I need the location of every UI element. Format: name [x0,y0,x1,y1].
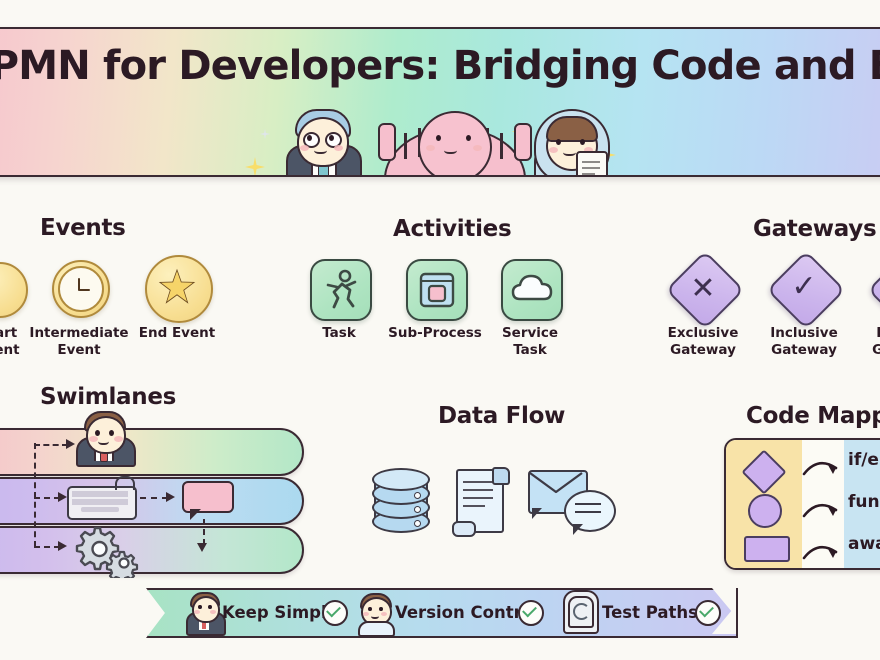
activity-subprocess-box [406,259,468,321]
sparkle-icon [260,129,270,139]
swimlane-keyboard-icon [67,482,137,518]
subprocess-window-icon [408,261,466,319]
section-title-codemapping: Code Mapping [746,403,880,429]
section-title-dataflow: Data Flow [438,403,565,429]
swimlane-arrow-5 [203,519,205,545]
activity-label-task: Task [297,325,381,342]
footer-icon-version-control [356,593,394,631]
code-text-await: await [848,534,880,554]
bridge-mascot [378,111,528,177]
scroll-document-icon [452,465,514,537]
bpmn-circle-shape [748,494,782,528]
footer-icon-test-paths [561,590,599,632]
swimlane-row-service [0,526,304,574]
code-text-function: function [848,492,880,512]
swimlane-speech-bubble-icon [182,481,234,521]
start-event-circle-icon [0,262,28,318]
swimlane-arrow-3 [34,546,60,548]
swimlane-arrow-1 [34,444,68,446]
swimlane-arrowhead-3 [58,541,67,551]
section-title-gateways: Gateways [753,216,876,242]
x-mark-icon: ✕ [677,274,729,304]
notepad-icon [576,151,608,177]
avatar-developer [526,105,618,175]
gateway-label-inclusive: Inclusive Gateway [758,325,850,359]
swimlane-arrow-4 [140,497,168,499]
page-title: BPMN for Developers: Bridging Code and B… [0,43,880,89]
gateway-label-exclusive: Exclusive Gateway [657,325,749,359]
activity-servicetask-box [501,259,563,321]
header-banner: BPMN for Developers: Bridging Code and B… [0,27,880,177]
envelope-chat-icon [528,470,614,536]
activity-label-servicetask: Service Task [490,325,570,359]
section-title-swimlanes: Swimlanes [40,384,176,410]
swimlane-row-actor [0,428,304,476]
event-label-end: End Event [132,325,222,342]
footer-icon-keep-simple [184,592,224,632]
footer-label-keep-simple: Keep Simple [222,603,338,622]
database-cylinder-icon [372,468,432,534]
swimlane-arrowhead-4 [166,492,175,502]
sparkle-icon [245,157,265,177]
swimlane-row-system [0,477,304,525]
activity-task-box [310,259,372,321]
gateway-label-parallel: Parallel Gateway [859,325,880,359]
check-mark-icon: ✓ [778,272,830,302]
swimlane-arrowhead-1 [66,439,75,449]
swimlane-arrowhead-2 [58,492,67,502]
section-title-events: Events [40,215,126,241]
footer-label-test-paths: Test Paths [602,603,698,622]
bpmn-rectangle-shape [744,536,790,562]
gateway-parallel-diamond [867,250,880,329]
running-person-icon [312,261,370,319]
infographic-canvas: BPMN for Developers: Bridging Code and B… [0,0,880,660]
swimlane-arrowhead-5 [197,543,207,552]
cloud-icon [503,261,561,319]
avatar-business-analyst [278,107,368,175]
code-text-ifelse: if/else [848,450,880,470]
section-title-activities: Activities [393,216,511,242]
swimlane-gears-icon [70,520,140,578]
swimlane-flow-connector [34,443,36,547]
activity-label-subprocess: Sub-Process [382,325,488,342]
swimlane-person-icon [76,411,134,461]
swimlane-arrow-2 [34,497,60,499]
event-label-intermediate: Intermediate Event [24,325,134,359]
